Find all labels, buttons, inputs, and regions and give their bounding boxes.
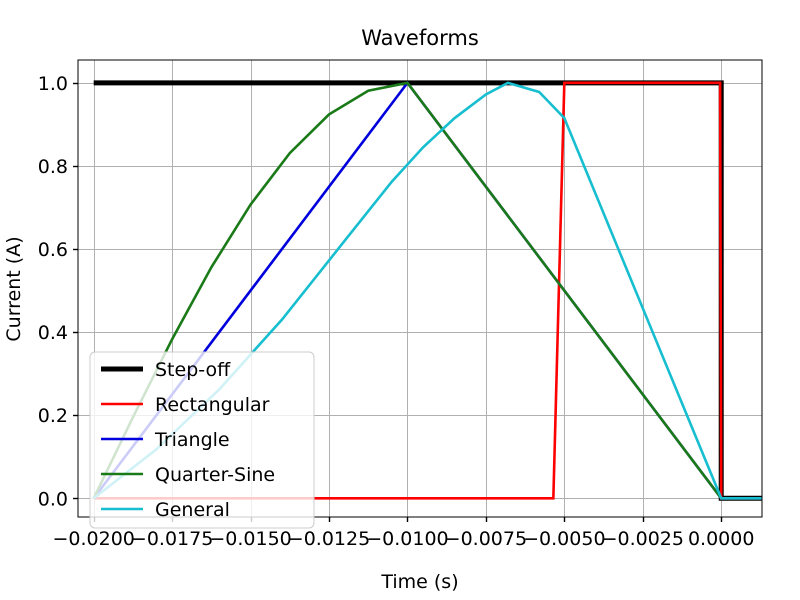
- x-tick-label: −0.0125: [288, 528, 370, 550]
- x-tick-label: −0.0050: [523, 528, 605, 550]
- y-tick-label: 0.0: [38, 488, 68, 510]
- y-tick-label: 0.6: [38, 239, 68, 261]
- legend-label: General: [155, 499, 230, 521]
- x-tick-labels: −0.0200−0.0175−0.0150−0.0125−0.0100−0.00…: [52, 528, 754, 550]
- y-tick-label: 1.0: [38, 73, 68, 95]
- figure-canvas: −0.0200−0.0175−0.0150−0.0125−0.0100−0.00…: [0, 0, 800, 600]
- y-axis-label: Current (A): [3, 236, 25, 341]
- y-tick-labels: 0.00.20.40.60.81.0: [38, 73, 68, 510]
- legend-label: Triangle: [154, 429, 230, 451]
- y-tick-label: 0.2: [38, 405, 68, 427]
- legend[interactable]: Step-offRectangularTriangleQuarter-SineG…: [90, 352, 314, 528]
- y-tick-label: 0.4: [38, 322, 68, 344]
- x-tick-label: −0.0150: [209, 528, 291, 550]
- x-axis-label: Time (s): [380, 571, 458, 593]
- legend-label: Quarter-Sine: [155, 464, 275, 486]
- x-tick-label: −0.0100: [366, 528, 448, 550]
- x-tick-label: −0.0200: [52, 528, 134, 550]
- chart-title: Waveforms: [361, 26, 479, 50]
- legend-label: Rectangular: [155, 394, 270, 416]
- legend-label: Step-off: [155, 359, 231, 381]
- x-tick-label: 0.0000: [688, 528, 754, 550]
- x-tick-label: −0.0175: [131, 528, 213, 550]
- x-tick-label: −0.0025: [602, 528, 684, 550]
- y-tick-label: 0.8: [38, 156, 68, 178]
- waveforms-chart: −0.0200−0.0175−0.0150−0.0125−0.0100−0.00…: [0, 0, 800, 600]
- x-tick-label: −0.0075: [445, 528, 527, 550]
